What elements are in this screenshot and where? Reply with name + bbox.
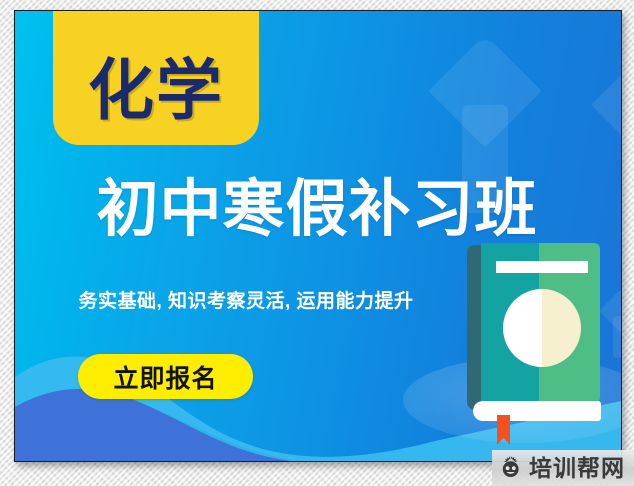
sun-face-icon xyxy=(498,456,524,480)
banner-subtitle: 务实基础, 知识考察灵活, 运用能力提升 xyxy=(31,292,461,313)
enroll-now-button[interactable]: 立即报名 xyxy=(78,354,253,399)
banner-canvas: 化学 初中寒假补习班 务实基础, 知识考察灵活, 运用能力提升 立即报名 xyxy=(15,11,621,461)
page-title: 初中寒假补习班 xyxy=(27,179,607,241)
page-backdrop: 化学 初中寒假补习班 务实基础, 知识考察灵活, 运用能力提升 立即报名 xyxy=(0,0,634,486)
watermark: 培训帮网 xyxy=(492,450,634,486)
enroll-now-button-label: 立即报名 xyxy=(113,359,217,395)
arrow-head xyxy=(591,54,621,156)
book-pages xyxy=(473,401,601,421)
watermark-text: 培训帮网 xyxy=(529,457,625,480)
arrow-head xyxy=(428,34,541,147)
book-icon xyxy=(445,239,615,449)
subject-badge-label: 化学 xyxy=(88,59,224,145)
book-title-band xyxy=(496,261,588,273)
subject-badge: 化学 xyxy=(53,11,259,145)
course-promo-banner: 化学 初中寒假补习班 务实基础, 知识考察灵活, 运用能力提升 立即报名 xyxy=(14,10,622,462)
